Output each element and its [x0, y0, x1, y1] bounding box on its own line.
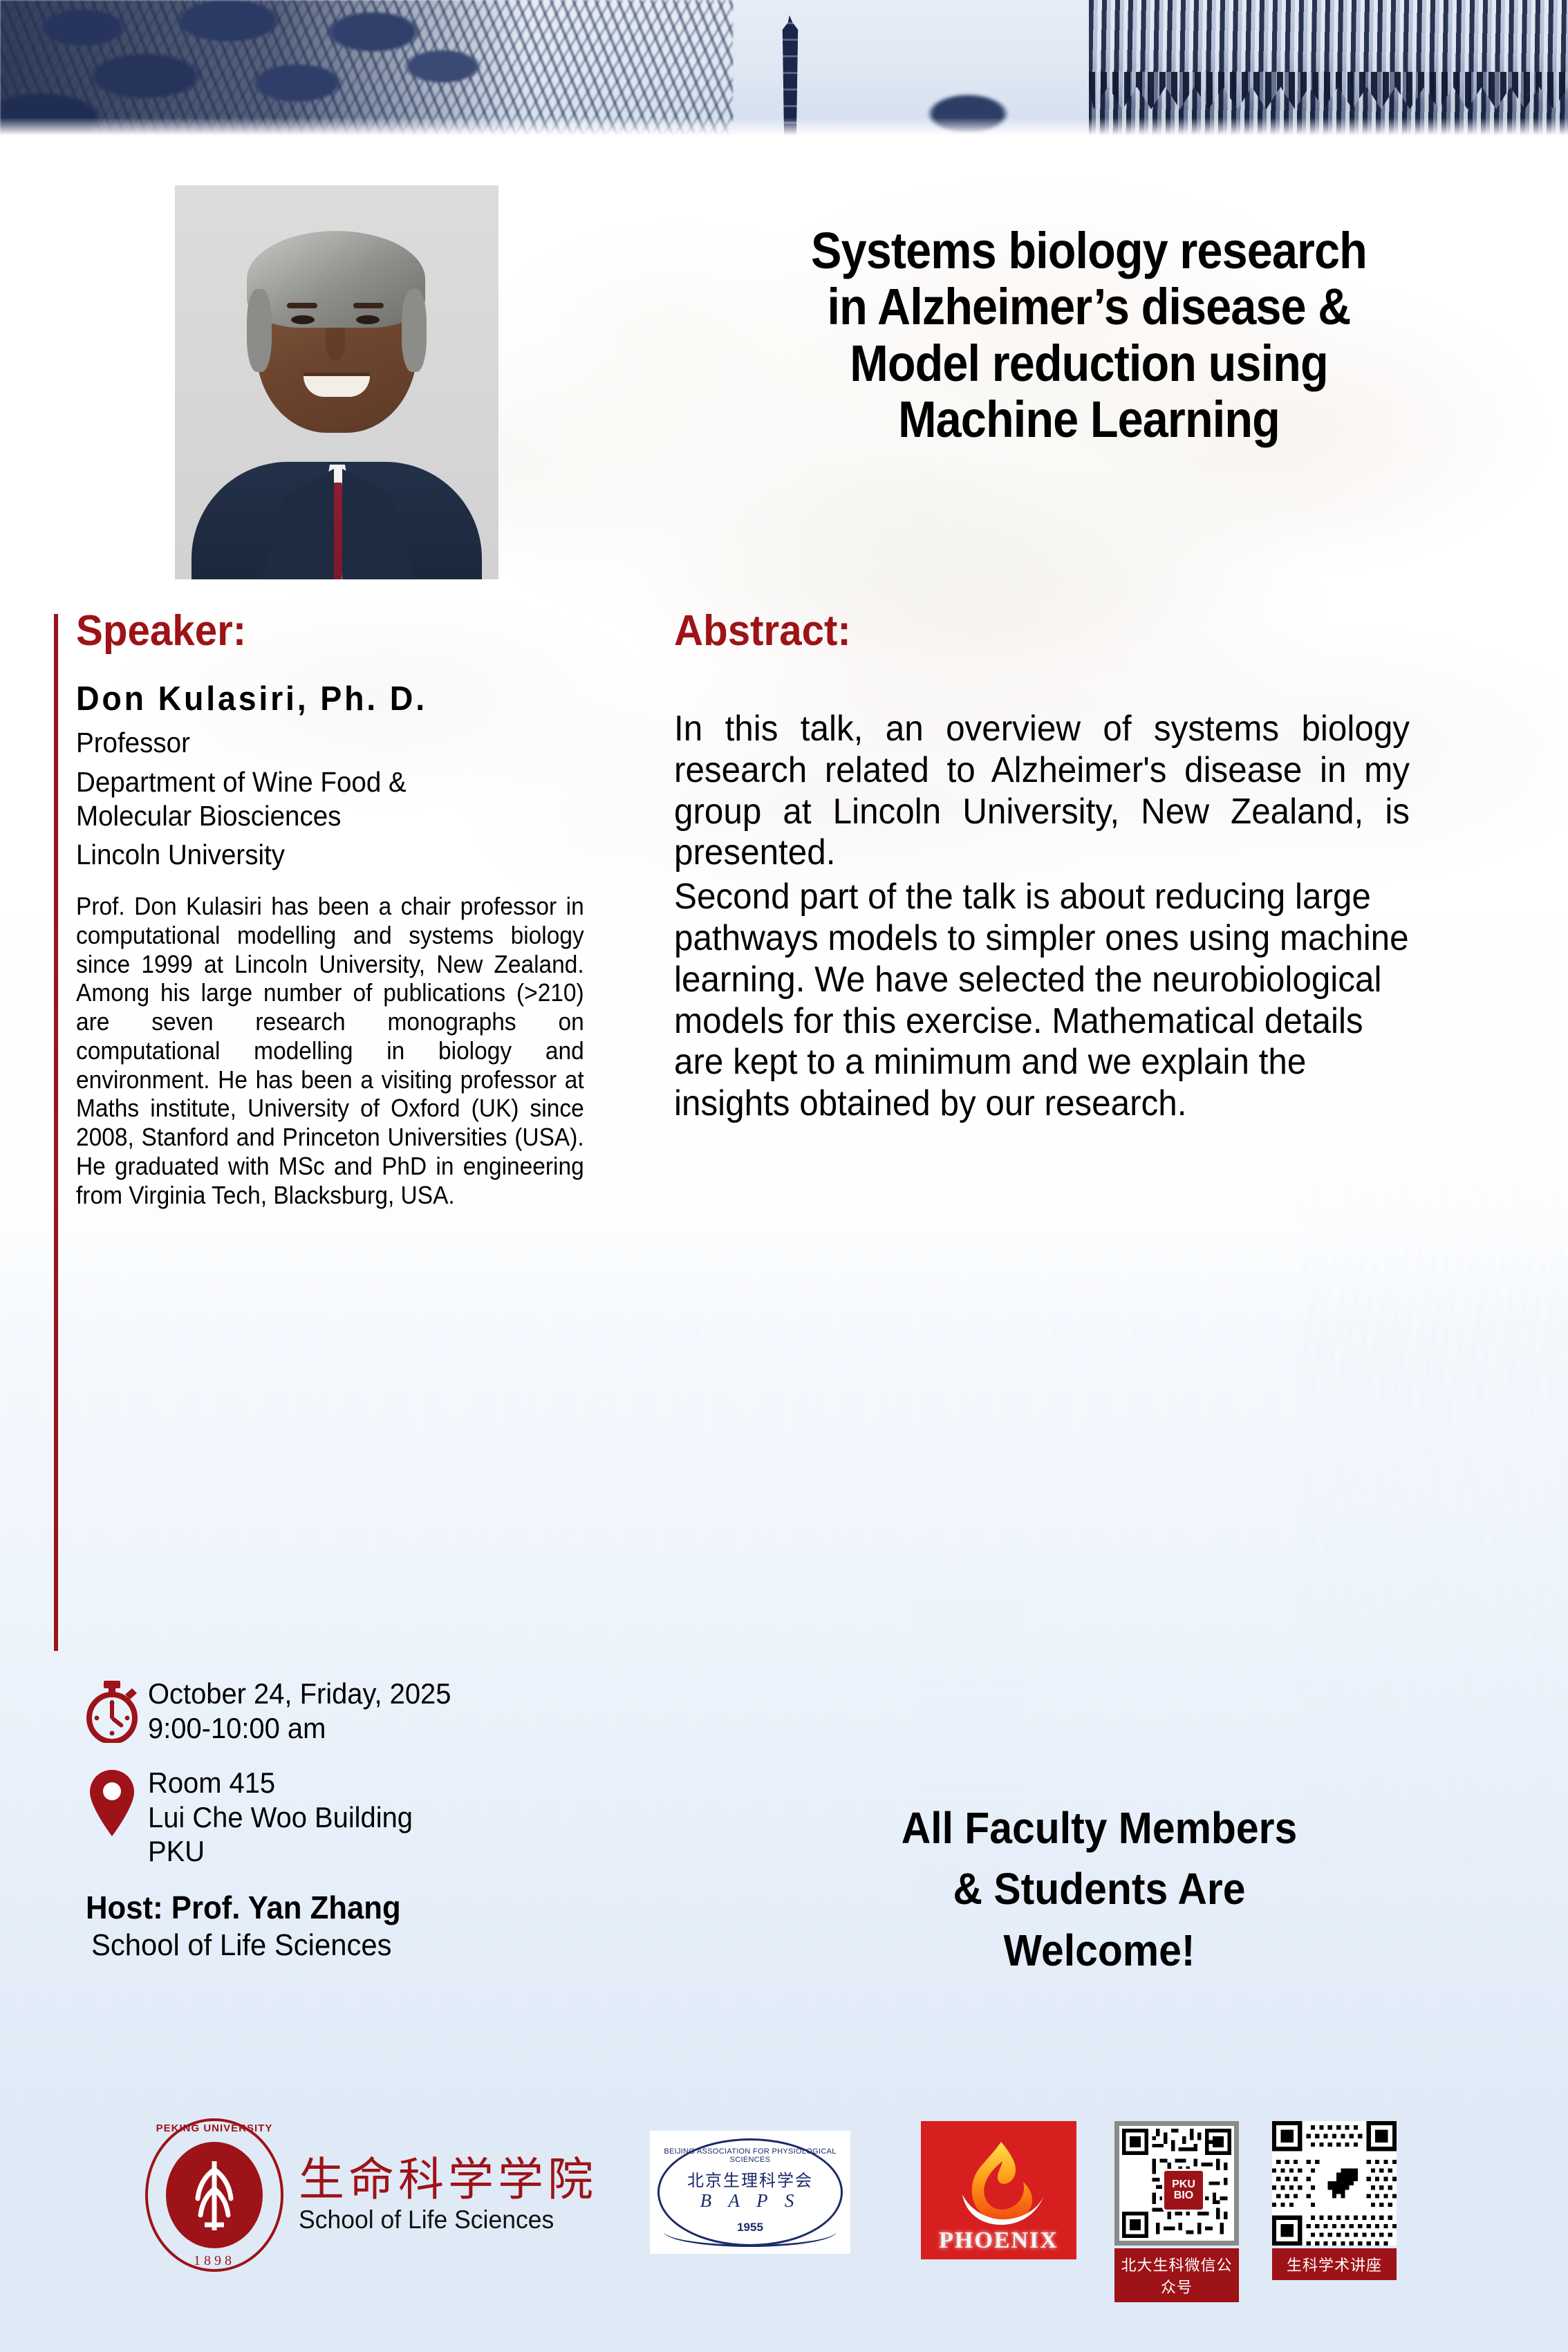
speaker-name: Don Kulasiri, Ph. D. — [76, 680, 601, 718]
portrait-hair — [247, 231, 425, 328]
header-banner-image — [0, 0, 1568, 136]
seminar-poster: Systems biology research in Alzheimer’s … — [0, 0, 1568, 2352]
speaker-portrait-photo — [175, 185, 498, 579]
baps-abbreviation: B A P S — [660, 2190, 841, 2212]
portrait-smile — [304, 376, 370, 397]
poster-title: Systems biology research in Alzheimer’s … — [694, 223, 1484, 448]
portrait-eye-right — [356, 315, 380, 324]
seal-figure-glyph — [184, 2158, 245, 2234]
baps-logo: BEIJING ASSOCIATION FOR PHYSIOLOGICAL SC… — [650, 2131, 850, 2254]
speaker-biography: Prof. Don Kulasiri has been a chair prof… — [76, 892, 584, 1209]
seal-year: 1898 — [145, 2253, 283, 2269]
title-line-3: Model reduction using — [694, 335, 1484, 391]
qr-code-image-2[interactable] — [1272, 2121, 1397, 2246]
event-details: October 24, Friday, 2025 9:00-10:00 am R… — [76, 1677, 643, 1963]
pku-school-of-life-sciences-logo: PEKING UNIVERSITY 1898 生命科学学院 School of … — [145, 2116, 622, 2275]
pku-english-name: School of Life Sciences — [299, 2205, 586, 2234]
qr-center-label-1a: PKU — [1172, 2179, 1195, 2190]
welcome-line-2: & Students Are — [787, 1858, 1411, 1919]
qr-code-wechat[interactable]: PKU BIO 北大生科微信公众号 — [1114, 2121, 1239, 2302]
banner-bottom-fade — [0, 118, 1568, 136]
location-row: Room 415 Lui Che Woo Building PKU — [76, 1766, 643, 1869]
event-room: Room 415 — [148, 1766, 413, 1800]
title-line-4: Machine Learning — [694, 391, 1484, 447]
speaker-section: Speaker: Don Kulasiri, Ph. D. Professor … — [76, 608, 629, 1209]
speaker-department-line-2: Molecular Biosciences — [76, 800, 596, 832]
baps-wreath — [664, 2216, 837, 2247]
banner-tree-foliage — [0, 0, 733, 136]
speaker-institution: Lincoln University — [76, 839, 596, 871]
phoenix-logo: PHOENIX — [921, 2121, 1076, 2259]
qr-center-label-1b: BIO — [1174, 2190, 1193, 2201]
portrait-brow-right — [353, 303, 384, 308]
title-line-2: in Alzheimer’s disease & — [694, 279, 1484, 335]
abstract-section: Abstract: In this talk, an overview of s… — [674, 608, 1466, 1128]
welcome-line-1: All Faculty Members — [787, 1798, 1411, 1858]
abstract-paragraph-2: Second part of the talk is about reducin… — [674, 877, 1410, 1125]
baps-english-text: BEIJING ASSOCIATION FOR PHYSIOLOGICAL SC… — [660, 2147, 841, 2164]
host-affiliation: School of Life Sciences — [91, 1928, 615, 1963]
qr-caption-1: 北大生科微信公众号 — [1114, 2248, 1239, 2302]
event-time: 9:00-10:00 am — [148, 1711, 451, 1746]
event-campus: PKU — [148, 1834, 413, 1869]
pku-chinese-name: 生命科学学院 — [299, 2156, 597, 2204]
portrait-nose — [326, 328, 345, 361]
qr-center-logo-1: PKU BIO — [1162, 2169, 1205, 2212]
speaker-heading: Speaker: — [76, 608, 596, 653]
flame-icon — [947, 2138, 1051, 2226]
welcome-line-3: Welcome! — [787, 1920, 1411, 1981]
speaker-department-line-1: Department of Wine Food & — [76, 766, 596, 799]
left-column-divider — [54, 614, 58, 1651]
event-building: Lui Che Woo Building — [148, 1800, 413, 1835]
time-row: October 24, Friday, 2025 9:00-10:00 am — [76, 1677, 643, 1745]
qr-code-lecture[interactable]: 生科学术讲座 — [1272, 2121, 1397, 2280]
abstract-heading: Abstract: — [674, 608, 1418, 653]
title-line-1: Systems biology research — [694, 223, 1484, 279]
portrait-brow-left — [287, 303, 317, 308]
speaker-rank: Professor — [76, 727, 596, 759]
baps-oval-frame: BEIJING ASSOCIATION FOR PHYSIOLOGICAL SC… — [657, 2138, 843, 2246]
qr-code-image-1[interactable]: PKU BIO — [1114, 2121, 1239, 2246]
stopwatch-icon — [76, 1677, 148, 1743]
location-text: Room 415 Lui Che Woo Building PKU — [148, 1766, 413, 1869]
baps-chinese-text: 北京生理科学会 — [660, 2167, 841, 2191]
banner-tiled-roof — [1089, 0, 1568, 136]
portrait-hair-left — [247, 289, 272, 372]
time-text: October 24, Friday, 2025 9:00-10:00 am — [148, 1677, 451, 1745]
qr-caption-2: 生科学术讲座 — [1272, 2248, 1397, 2280]
seal-arc-text: PEKING UNIVERSITY — [145, 2122, 283, 2134]
pku-wordmark: 生命科学学院 School of Life Sciences — [299, 2156, 597, 2234]
footer-logo-bar: PEKING UNIVERSITY 1898 生命科学学院 School of … — [0, 2095, 1568, 2302]
pku-seal-icon: PEKING UNIVERSITY 1898 — [145, 2118, 283, 2272]
welcome-message: All Faculty Members & Students Are Welco… — [787, 1798, 1411, 1981]
portrait-hair-right — [402, 289, 427, 372]
event-date: October 24, Friday, 2025 — [148, 1677, 451, 1711]
abstract-paragraph-1: In this talk, an overview of systems bio… — [674, 709, 1410, 874]
portrait-eye-left — [291, 315, 315, 324]
phoenix-wordmark: PHOENIX — [939, 2228, 1058, 2254]
map-pin-icon — [76, 1766, 148, 1838]
host-name: Host: Prof. Yan Zhang — [86, 1889, 615, 1926]
